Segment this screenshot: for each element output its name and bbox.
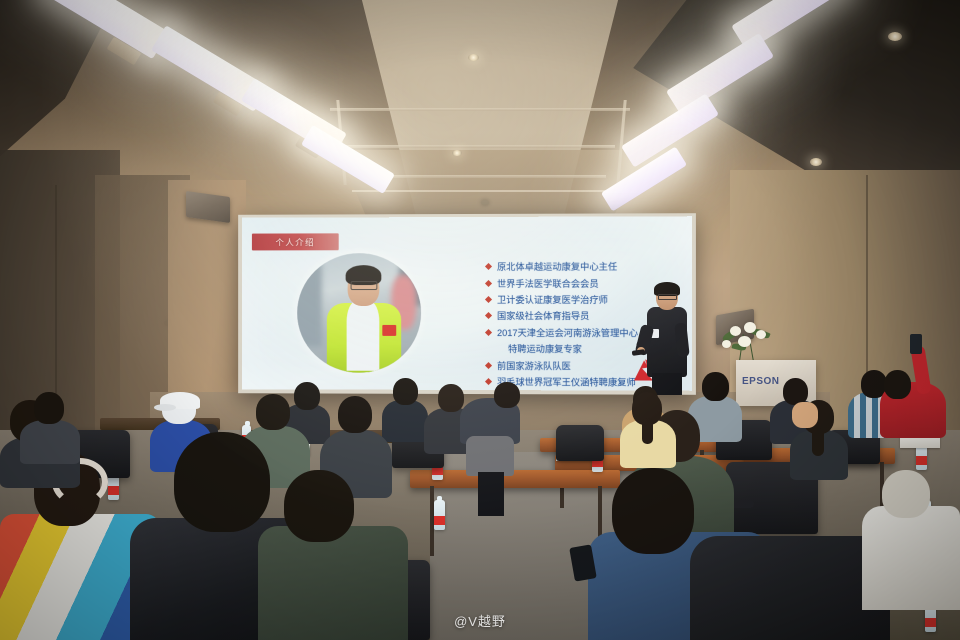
soffit-highlight	[352, 190, 610, 192]
photo-bg-blur-left	[297, 263, 322, 347]
presenter-glasses-icon	[658, 294, 677, 300]
ponytail	[642, 418, 653, 444]
presenter	[636, 285, 696, 393]
presenter-arm-right	[674, 322, 689, 357]
audience-person-ponytail	[620, 392, 676, 462]
person-head	[393, 378, 418, 405]
slide-title-badge: 个人介绍	[252, 233, 339, 250]
chair-4[interactable]	[556, 425, 604, 461]
water-bottle-4[interactable]	[434, 500, 445, 530]
slide-title-text: 个人介绍	[276, 236, 315, 248]
audience-person-front-white	[862, 470, 960, 610]
audience-person-left-2	[20, 392, 80, 454]
person-head	[256, 394, 290, 430]
flower-3	[756, 330, 766, 339]
raised-hand-icon	[792, 402, 818, 428]
person-head	[338, 396, 372, 433]
smartphone-icon[interactable]	[910, 334, 922, 354]
person-head	[34, 392, 64, 424]
smoke-detector-1	[481, 200, 489, 205]
audience-person-recording	[880, 340, 950, 436]
person-jacket	[690, 536, 890, 640]
ceiling-downlight-4	[810, 158, 822, 166]
ceiling-downlight-3	[888, 32, 902, 41]
photo-white-shirt	[347, 301, 379, 370]
flower-1	[730, 326, 741, 336]
person-head	[174, 432, 270, 532]
person-jacket	[862, 506, 960, 610]
person-head	[284, 470, 354, 542]
photo-flag-patch-icon	[383, 325, 397, 336]
ceiling-downlight-2	[452, 150, 462, 156]
person-head	[884, 370, 911, 399]
screenshot-root: 个人介绍 原北体卓越运动康复中心主任 世界手法医学联合会会员 卫计委认证康复医学…	[0, 0, 960, 640]
flower-2	[744, 322, 756, 333]
photo-glasses-icon	[350, 281, 377, 290]
cap-brim	[154, 404, 176, 411]
person-head	[882, 470, 930, 518]
list-item: 原北体卓越运动康复中心主任	[486, 260, 692, 275]
audience-person-front-dark	[690, 512, 890, 640]
slide-portrait-photo	[297, 253, 421, 373]
ceiling-beam-1	[330, 108, 630, 111]
audience-person-bending	[460, 382, 530, 472]
person-skirt	[466, 436, 514, 476]
flower-4	[738, 336, 751, 347]
audience-person-front-green	[258, 470, 408, 640]
person-head	[702, 372, 729, 401]
ceiling-beam-2	[345, 145, 615, 148]
person-legs	[478, 472, 504, 516]
person-jacket	[258, 526, 408, 640]
projection-screen[interactable]: 个人介绍 原北体卓越运动康复中心主任 世界手法医学联合会会员 卫计委认证康复医学…	[242, 216, 692, 391]
flower-5	[722, 340, 731, 348]
ceiling-downlight-1	[468, 54, 479, 61]
watermark: @V越野	[454, 611, 506, 630]
person-head	[612, 468, 694, 554]
ceiling-beam-3	[358, 175, 606, 178]
person-torso	[20, 420, 80, 464]
audience-person-hand-up	[792, 402, 826, 442]
person-head	[494, 382, 520, 408]
